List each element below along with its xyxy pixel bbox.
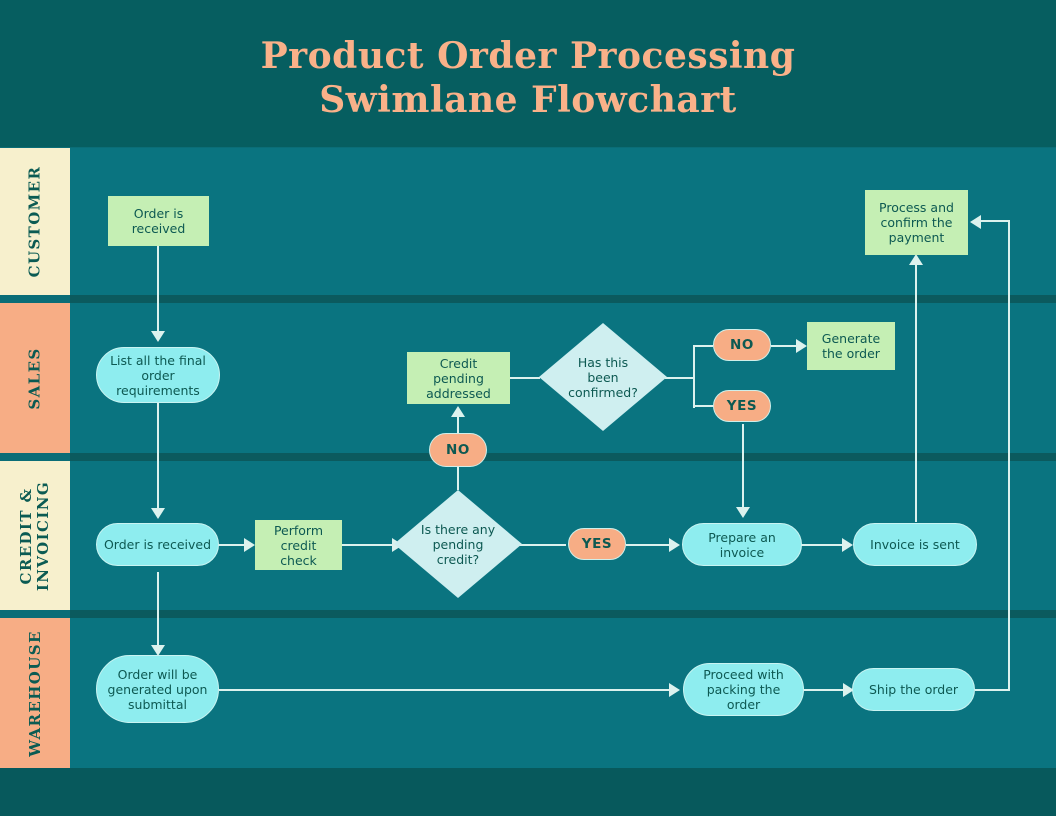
node-perform-credit-check[interactable]: Perform credit check xyxy=(255,520,342,570)
badge-no-confirmed-label: NO xyxy=(730,338,754,353)
node-line-2: generated upon xyxy=(108,682,208,697)
node-list-all-requirements[interactable]: List all the final order requirements xyxy=(96,347,220,403)
node-line-2: packing the order xyxy=(707,682,781,712)
node-perform-credit-check-label: Perform credit check xyxy=(261,523,336,568)
node-order-generated-upon-submittal[interactable]: Order will be generated upon submittal xyxy=(96,655,219,723)
connector-list-to-order-received-credit xyxy=(157,403,159,511)
node-line-2: received xyxy=(132,221,186,236)
badge-no-pending-credit-label: NO xyxy=(446,443,470,458)
node-line-3: payment xyxy=(889,230,945,245)
node-line-1: Credit pending xyxy=(433,356,484,386)
lane-label-warehouse-text: WAREHOUSE xyxy=(27,630,44,757)
node-proceed-with-packing[interactable]: Proceed with packing the order xyxy=(683,663,804,716)
node-has-this-been-confirmed[interactable]: Has this been confirmed? xyxy=(539,323,667,431)
node-line-2: order requirements xyxy=(116,368,200,398)
lane-label-sales-text: SALES xyxy=(26,347,43,409)
node-has-this-been-confirmed-label: Has this been confirmed? xyxy=(562,355,644,400)
connector-invoice-sent-to-process-payment xyxy=(915,264,917,522)
node-line-1: Proceed with xyxy=(703,667,784,682)
connector-ship-to-payment-v xyxy=(1008,220,1010,691)
arrowhead-order-generated-to-packing xyxy=(669,683,680,697)
badge-yes-confirmed[interactable]: YES xyxy=(713,390,771,422)
node-prepare-an-invoice-label: Prepare an invoice xyxy=(689,530,795,560)
arrowhead-order-received-to-list xyxy=(151,331,165,342)
node-line-2: credit check xyxy=(280,538,317,568)
arrowhead-order-received-credit-to-perform xyxy=(244,538,255,552)
node-line-2: the order xyxy=(822,346,880,361)
node-invoice-is-sent[interactable]: Invoice is sent xyxy=(853,523,977,566)
node-order-generated-upon-submittal-label: Order will be generated upon submittal xyxy=(108,667,208,712)
node-is-there-pending-credit-label: Is there any pending credit? xyxy=(415,522,501,567)
connector-ship-to-payment-h2 xyxy=(981,220,1010,222)
node-line-2: pending xyxy=(433,537,484,552)
arrowhead-yes-confirmed-to-prepare-invoice xyxy=(736,507,750,518)
lane-label-warehouse[interactable]: WAREHOUSE xyxy=(0,618,70,768)
connector-order-generated-to-packing xyxy=(219,689,675,691)
connector-confirmed-branch-bracket xyxy=(693,346,695,408)
lane-separator-1 xyxy=(70,295,1056,303)
badge-yes-confirmed-label: YES xyxy=(727,399,758,414)
connector-order-received-credit-to-order-generated xyxy=(157,572,159,654)
lane-separator-3 xyxy=(70,610,1056,618)
node-list-all-requirements-label: List all the final order requirements xyxy=(103,353,213,398)
lane-label-sales[interactable]: SALES xyxy=(0,303,70,453)
connector-packing-to-ship xyxy=(804,689,848,691)
lane-label-credit-line2: INVOICING xyxy=(34,480,52,590)
node-ship-the-order-label: Ship the order xyxy=(869,682,958,697)
lane-separator-2 xyxy=(70,453,1056,461)
node-line-1: Process and xyxy=(879,200,954,215)
badge-yes-pending-credit-label: YES xyxy=(582,537,613,552)
node-line-1: Has this xyxy=(578,355,628,370)
node-invoice-is-sent-label: Invoice is sent xyxy=(870,537,960,552)
node-generate-the-order-label: Generate the order xyxy=(822,331,880,361)
node-order-is-received-credit-label: Order is received xyxy=(104,537,211,552)
lane-label-customer[interactable]: CUSTOMER xyxy=(0,148,70,295)
lane-label-credit-line1: CREDIT & xyxy=(17,487,35,584)
lane-label-credit-invoicing-text: CREDIT & INVOICING xyxy=(18,480,52,590)
connector-perform-to-pending-credit xyxy=(342,544,396,546)
connector-pending-credit-to-no xyxy=(457,466,459,490)
connector-confirmed-to-no xyxy=(693,345,713,347)
connector-ship-to-payment-h1 xyxy=(975,689,1010,691)
connector-order-received-to-list xyxy=(157,246,159,340)
node-line-1: Order will be xyxy=(118,667,198,682)
connector-prepare-to-invoice-sent xyxy=(801,544,847,546)
lane-label-credit-invoicing[interactable]: CREDIT & INVOICING xyxy=(0,461,70,610)
connector-confirmed-branch-stem xyxy=(665,377,695,379)
node-process-confirm-payment-label: Process and confirm the payment xyxy=(879,200,954,245)
node-prepare-an-invoice[interactable]: Prepare an invoice xyxy=(682,523,802,566)
arrowhead-invoice-sent-to-process-payment xyxy=(909,254,923,265)
badge-no-pending-credit[interactable]: NO xyxy=(429,433,487,467)
node-is-there-pending-credit[interactable]: Is there any pending credit? xyxy=(394,490,522,598)
arrowhead-no-to-generate-order xyxy=(796,339,807,353)
footer-band xyxy=(0,768,1056,816)
page-title-line2: Swimlane Flowchart xyxy=(0,78,1056,122)
node-line-1: Perform xyxy=(274,523,323,538)
node-proceed-with-packing-label: Proceed with packing the order xyxy=(690,667,797,712)
connector-credit-pending-to-confirmed xyxy=(510,377,540,379)
flowchart-canvas: Product Order Processing Swimlane Flowch… xyxy=(0,0,1056,816)
connector-confirmed-to-yes xyxy=(693,405,713,407)
node-line-2: been xyxy=(587,370,618,385)
node-order-is-received-customer-label: Order is received xyxy=(132,206,186,236)
header-banner: Product Order Processing Swimlane Flowch… xyxy=(0,0,1056,147)
page-title: Product Order Processing Swimlane Flowch… xyxy=(0,34,1056,122)
page-title-line1: Product Order Processing xyxy=(261,35,796,77)
node-line-1: List all the final xyxy=(110,353,206,368)
node-credit-pending-addressed[interactable]: Credit pending addressed xyxy=(407,352,510,404)
node-ship-the-order[interactable]: Ship the order xyxy=(852,668,975,711)
badge-yes-pending-credit[interactable]: YES xyxy=(568,528,626,560)
node-order-is-received-credit[interactable]: Order is received xyxy=(96,523,219,566)
node-process-confirm-payment[interactable]: Process and confirm the payment xyxy=(865,190,968,255)
arrowhead-yes-to-prepare-invoice xyxy=(669,538,680,552)
lane-label-customer-text: CUSTOMER xyxy=(27,166,44,278)
node-line-2: addressed xyxy=(426,386,491,401)
connector-yes-confirmed-to-prepare-invoice xyxy=(742,424,744,512)
node-line-3: confirmed? xyxy=(568,385,638,400)
badge-no-confirmed[interactable]: NO xyxy=(713,329,771,361)
node-generate-the-order[interactable]: Generate the order xyxy=(807,322,895,370)
arrowhead-list-to-order-received-credit xyxy=(151,508,165,519)
node-line-2: confirm the xyxy=(881,215,953,230)
node-credit-pending-addressed-label: Credit pending addressed xyxy=(413,356,504,401)
connector-yes-to-prepare-invoice xyxy=(626,544,674,546)
node-line-3: credit? xyxy=(437,552,479,567)
node-line-1: Generate xyxy=(822,331,880,346)
node-line-1: Is there any xyxy=(421,522,495,537)
arrowhead-ship-to-payment xyxy=(970,215,981,229)
node-order-is-received-customer[interactable]: Order is received xyxy=(108,196,209,246)
arrowhead-prepare-to-invoice-sent xyxy=(842,538,853,552)
arrowhead-no-to-credit-pending xyxy=(451,406,465,417)
node-line-3: submittal xyxy=(128,697,187,712)
node-line-1: Order is xyxy=(134,206,183,221)
